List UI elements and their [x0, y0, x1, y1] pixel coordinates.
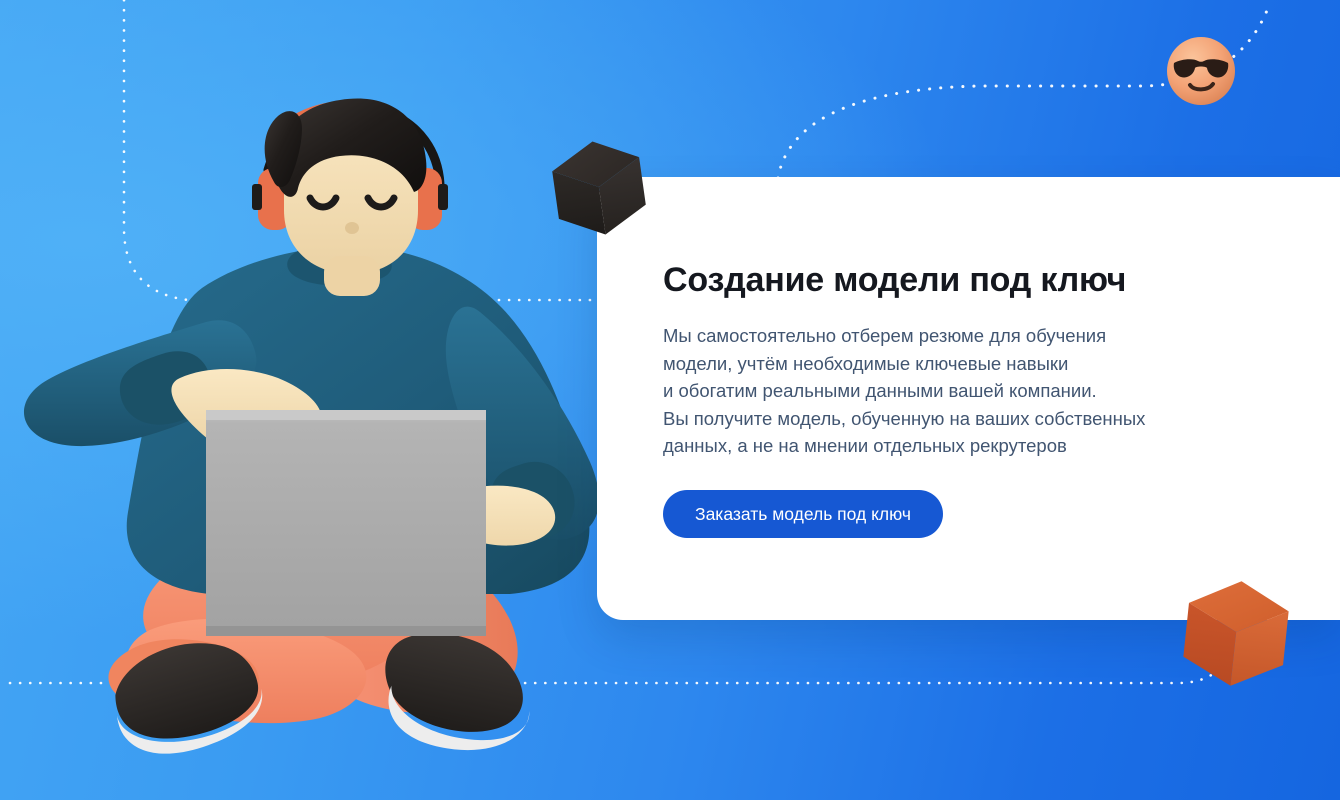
content-card: Создание модели под ключ Мы самостоятель… [597, 177, 1340, 620]
description-line: данных, а не на мнении отдельных рекруте… [663, 432, 1223, 460]
card-content: Создание модели под ключ Мы самостоятель… [663, 260, 1223, 538]
description-line: модели, учтём необходимые ключевые навык… [663, 350, 1223, 378]
description-line: Мы самостоятельно отберем резюме для обу… [663, 322, 1223, 350]
description-line: и обогатим реальными данными вашей компа… [663, 377, 1223, 405]
card-description: Мы самостоятельно отберем резюме для обу… [663, 322, 1223, 460]
page-title: Создание модели под ключ [663, 260, 1223, 300]
hero-section: Создание модели под ключ Мы самостоятель… [0, 0, 1340, 800]
description-line: Вы получите модель, обученную на ваших с… [663, 405, 1223, 433]
order-turnkey-model-button[interactable]: Заказать модель под ключ [663, 490, 943, 538]
